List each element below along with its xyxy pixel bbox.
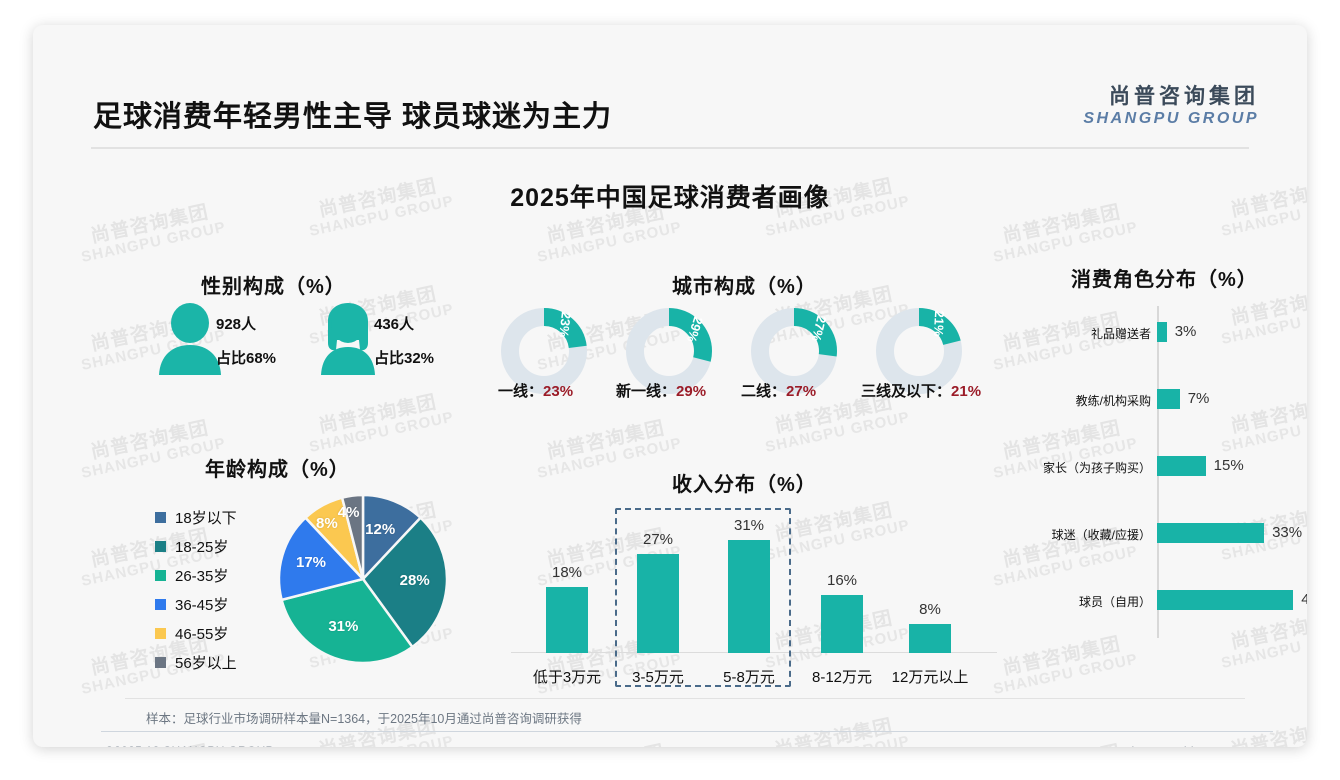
- income-bar[interactable]: [909, 624, 951, 653]
- role-bar-category: 教练/机构采购: [1043, 392, 1151, 409]
- age-pie-value: 4%: [338, 504, 360, 521]
- header-divider: [91, 147, 1249, 149]
- female-share: 占比32%: [374, 347, 434, 368]
- income-bar-chart: 18%低于3万元27%3-5万元31%5-8万元16%8-12万元8%12万元以…: [503, 495, 1003, 695]
- sample-footnote: 样本：足球行业市场调研样本量N=1364，于2025年10月通过尚普咨询调研获得: [146, 708, 582, 727]
- age-legend-label: 56岁以上: [175, 652, 237, 673]
- male-share: 占比68%: [216, 347, 276, 368]
- age-legend-item[interactable]: 56岁以上: [155, 648, 237, 677]
- role-bar[interactable]: [1157, 523, 1264, 543]
- city-percent: 21%: [951, 383, 981, 400]
- logo-english: SHANGPU GROUP: [1083, 109, 1259, 128]
- gender-section-title: 性别构成（%）: [201, 270, 346, 299]
- role-bar[interactable]: [1157, 389, 1180, 409]
- role-bar[interactable]: [1157, 456, 1206, 476]
- role-bar-category: 球迷（收藏/应援）: [1043, 526, 1151, 543]
- city-donut-caption-1: 一线：23%: [498, 380, 573, 401]
- age-pie-value: 28%: [400, 572, 430, 589]
- role-bar-value: 33%: [1272, 524, 1302, 541]
- age-section-title: 年龄构成（%）: [205, 453, 350, 482]
- city-donut-caption-4: 三线及以下：21%: [861, 380, 981, 401]
- footnote-divider: [125, 698, 1245, 699]
- legend-swatch-icon: [155, 512, 166, 523]
- age-legend-label: 18岁以下: [175, 507, 237, 528]
- income-bar-category: 12万元以上: [870, 666, 990, 687]
- income-bar-value: 18%: [522, 564, 612, 581]
- role-bar-chart: 礼品赠送者3%教练/机构采购7%家长（为孩子购买）15%球迷（收藏/应援）33%…: [1043, 300, 1307, 645]
- age-legend-item[interactable]: 26-35岁: [155, 561, 237, 590]
- age-legend-label: 46-55岁: [175, 623, 228, 644]
- age-legend-item[interactable]: 18-25岁: [155, 532, 237, 561]
- female-count: 436人: [374, 313, 414, 334]
- age-pie-value: 17%: [296, 554, 326, 571]
- role-section-title: 消费角色分布（%）: [1071, 263, 1258, 292]
- role-bar-value: 15%: [1214, 457, 1244, 474]
- role-bar-value: 42%: [1301, 591, 1307, 608]
- city-donut-caption-2: 新一线：29%: [616, 380, 706, 401]
- city-donut-value-4: 21%: [931, 310, 947, 337]
- city-section-title: 城市构成（%）: [672, 270, 817, 299]
- city-label: 新一线：: [616, 383, 676, 400]
- legend-swatch-icon: [155, 628, 166, 639]
- age-pie-chart: 12%28%31%17%8%4%: [273, 495, 453, 665]
- female-icon: [315, 303, 381, 375]
- city-label: 三线及以下：: [861, 383, 951, 400]
- age-pie-value: 31%: [328, 618, 358, 635]
- age-pie-value: 8%: [316, 515, 338, 532]
- age-legend: 18岁以下18-25岁26-35岁36-45岁46-55岁56岁以上: [155, 503, 237, 677]
- role-bar[interactable]: [1157, 590, 1293, 610]
- footer-website[interactable]: www.shangpu-china.com: [1095, 744, 1235, 747]
- footer-copyright: ©2025.12 SHANGPU GROUP: [105, 744, 274, 747]
- role-bar-value: 7%: [1188, 390, 1210, 407]
- role-bar-category: 球员（自用）: [1043, 593, 1151, 610]
- role-bar-value: 3%: [1175, 323, 1197, 340]
- legend-swatch-icon: [155, 599, 166, 610]
- logo-chinese: 尚普咨询集团: [1083, 85, 1259, 109]
- city-percent: 29%: [676, 383, 706, 400]
- income-bar-value: 16%: [797, 572, 887, 589]
- brand-logo: 尚普咨询集团 SHANGPU GROUP: [1083, 85, 1259, 128]
- income-bar[interactable]: [821, 595, 863, 654]
- income-bar-value: 8%: [885, 601, 975, 618]
- age-legend-label: 26-35岁: [175, 565, 228, 586]
- income-section-title: 收入分布（%）: [672, 468, 817, 497]
- footer-divider: [101, 731, 1273, 732]
- age-legend-label: 36-45岁: [175, 594, 228, 615]
- role-bar[interactable]: [1157, 322, 1167, 342]
- legend-swatch-icon: [155, 541, 166, 552]
- city-percent: 27%: [786, 383, 816, 400]
- city-percent: 23%: [543, 383, 573, 400]
- income-bar[interactable]: [546, 587, 588, 653]
- report-card: 尚普咨询集团SHANGPU GROUP尚普咨询集团SHANGPU GROUP尚普…: [33, 25, 1307, 747]
- age-legend-label: 18-25岁: [175, 536, 228, 557]
- city-label: 二线：: [741, 383, 786, 400]
- age-legend-item[interactable]: 18岁以下: [155, 503, 237, 532]
- male-icon: [157, 303, 223, 375]
- age-legend-item[interactable]: 36-45岁: [155, 590, 237, 619]
- page-title: 足球消费年轻男性主导 球员球迷为主力: [93, 93, 612, 135]
- age-pie-value: 12%: [365, 521, 395, 538]
- age-legend-item[interactable]: 46-55岁: [155, 619, 237, 648]
- legend-swatch-icon: [155, 570, 166, 581]
- male-count: 928人: [216, 313, 256, 334]
- income-highlight-box: [615, 508, 791, 687]
- main-chart-title: 2025年中国足球消费者画像: [33, 178, 1307, 214]
- role-bar-category: 家长（为孩子购买）: [1043, 459, 1151, 476]
- city-label: 一线：: [498, 383, 543, 400]
- legend-swatch-icon: [155, 657, 166, 668]
- role-bar-category: 礼品赠送者: [1043, 325, 1151, 342]
- city-donut-caption-3: 二线：27%: [741, 380, 816, 401]
